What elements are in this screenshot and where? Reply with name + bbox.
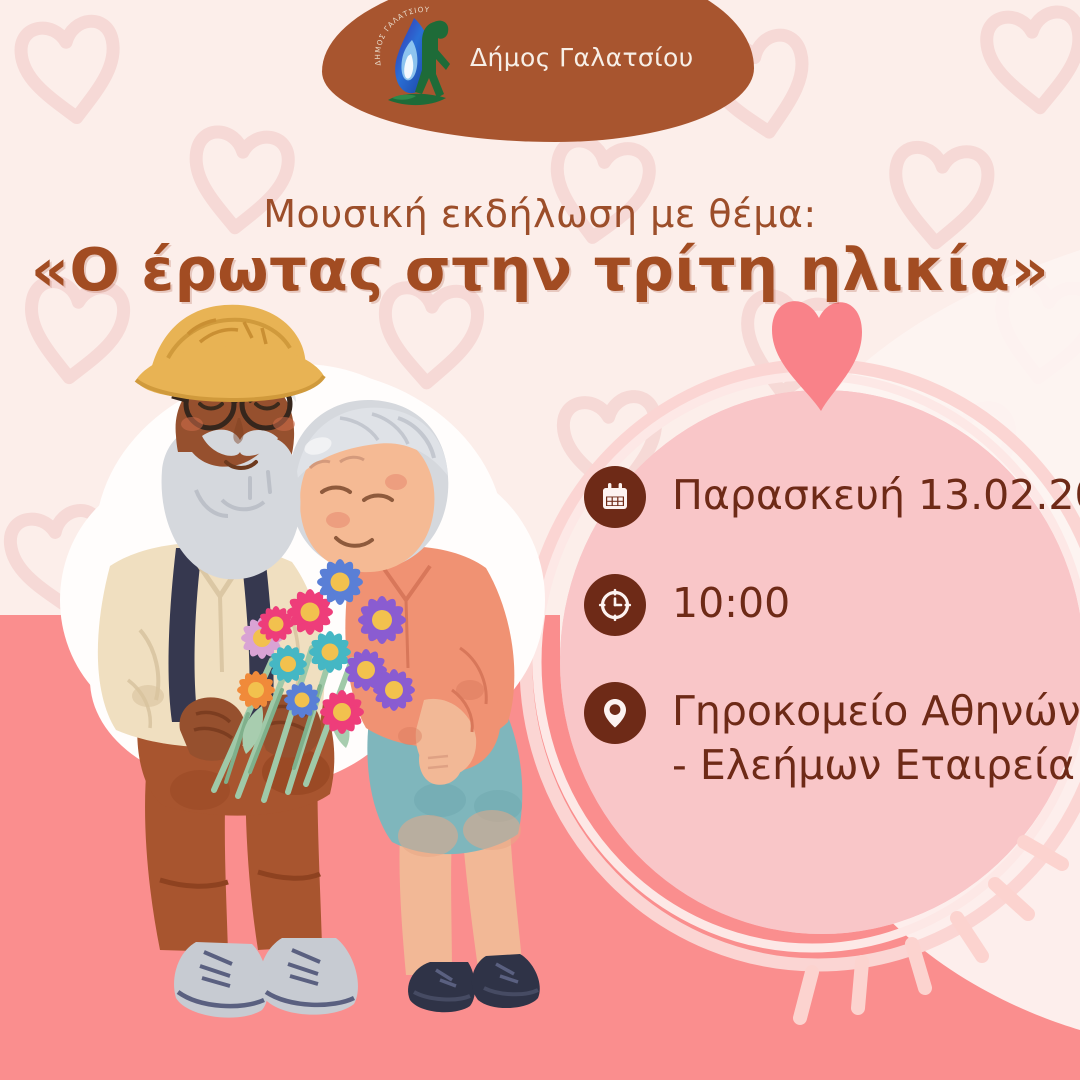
info-date-text: Παρασκευή 13.02.2026 [672,466,1080,522]
info-row-time: 10:00 [584,574,1080,636]
brand-name: Δήμος Γαλατσίου [470,43,694,72]
info-time-text: 10:00 [672,574,790,630]
title-line-1: Μουσική εκδήλωση με θέμα: [0,192,1080,236]
poster-canvas: ΔΗΜΟΣ ΓΑΛΑΤΣΙΟΥ Δήμος Γαλατσίου Μουσική … [0,0,1080,1080]
info-location-text: Γηροκομείο Αθηνών - Ελεήμων Εταιρεία [672,682,1080,792]
event-info-list: Παρασκευή 13.02.2026 [584,466,1080,838]
title-line-2: «Ο έρωτας στην τρίτη ηλικία» [0,235,1080,304]
calendar-icon [584,466,646,528]
location-pin-icon [584,682,646,744]
info-location-line2: - Ελεήμων Εταιρεία [672,738,1080,792]
info-time-line1: 10:00 [672,579,790,627]
clock-icon [584,574,646,636]
man-shoes [174,938,358,1018]
info-row-location: Γηροκομείο Αθηνών - Ελεήμων Εταιρεία [584,682,1080,792]
galatsi-municipality-logo: ΔΗΜΟΣ ΓΑΛΑΤΣΙΟΥ [372,6,478,114]
info-date-line1: Παρασκευή 13.02.2026 [672,471,1080,519]
info-row-date: Παρασκευή 13.02.2026 [584,466,1080,528]
info-location-line1: Γηροκομείο Αθηνών [672,687,1080,735]
